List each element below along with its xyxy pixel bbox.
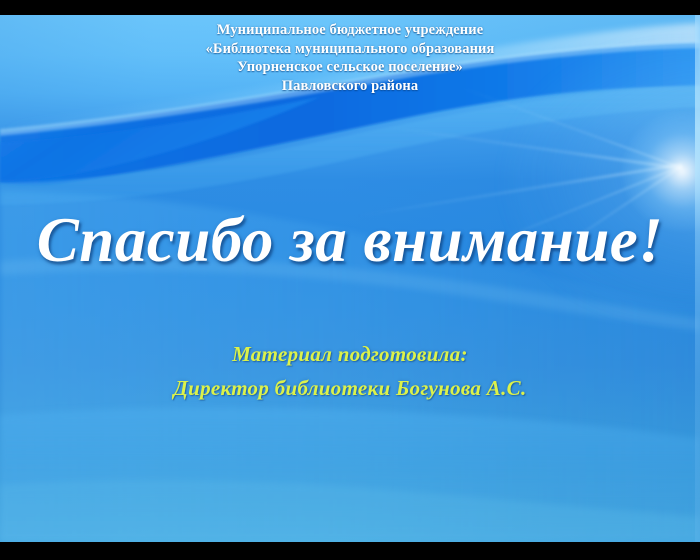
letterbox-bar-top xyxy=(0,0,700,15)
organization-header-line-1: Муниципальное бюджетное учреждение xyxy=(0,21,700,40)
organization-header-line-3: Упорненское сельское поселение» xyxy=(0,58,700,77)
author-credit-line-1: Материал подготовила: xyxy=(0,337,700,371)
letterbox-bar-bottom xyxy=(0,542,700,560)
organization-header-line-2: «Библиотека муниципального образования xyxy=(0,40,700,59)
presentation-slide: Муниципальное бюджетное учреждение «Библ… xyxy=(0,0,700,560)
organization-header-line-4: Павловского района xyxy=(0,77,700,96)
organization-header: Муниципальное бюджетное учреждение «Библ… xyxy=(0,21,700,95)
slide-canvas: Муниципальное бюджетное учреждение «Библ… xyxy=(0,15,700,542)
author-credit-line-2: Директор библиотеки Богунова А.С. xyxy=(0,371,700,405)
author-credit: Материал подготовила: Директор библиотек… xyxy=(0,337,700,405)
slide-title: Спасибо за внимание! xyxy=(0,204,700,276)
slide-text-layer: Муниципальное бюджетное учреждение «Библ… xyxy=(0,15,700,542)
